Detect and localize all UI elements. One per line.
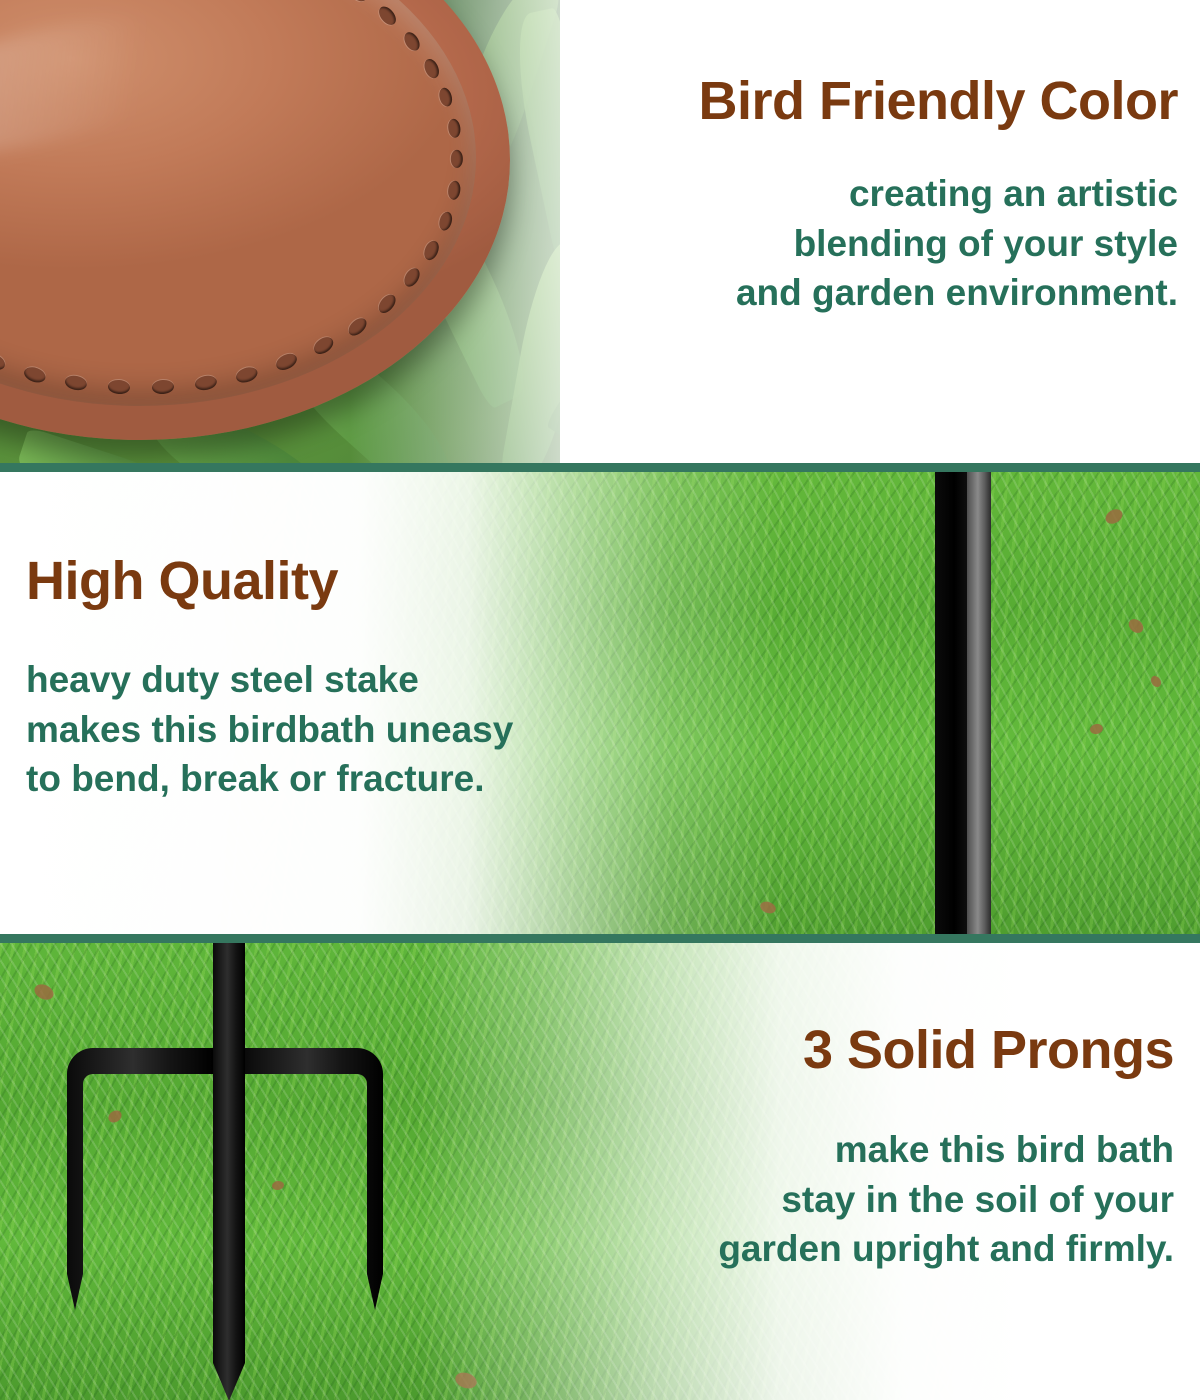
stake-center-prong [213,943,245,1400]
panel-2-body-line: makes this birdbath uneasy [26,705,513,755]
panel-3-copy: 3 Solid Prongs make this bird bath stay … [718,1023,1174,1274]
feature-panel-high-quality: High Quality heavy duty steel stake make… [0,472,1200,934]
three-prong-stake [0,943,620,1400]
panel-2-body-line: heavy duty steel stake [26,655,513,705]
panel-1-body-line: and garden environment. [698,268,1178,318]
panel-2-body: heavy duty steel stake makes this birdba… [26,655,513,804]
panel-3-heading: 3 Solid Prongs [718,1023,1174,1077]
bowl-drain-hole [451,150,463,168]
panel-1-body-line: creating an artistic [698,169,1178,219]
feature-panel-three-solid-prongs: 3 Solid Prongs make this bird bath stay … [0,943,1200,1400]
panel-3-body-line: stay in the soil of your [718,1175,1174,1225]
panel-2-body-line: to bend, break or fracture. [26,754,513,804]
panel-1-heading: Bird Friendly Color [698,74,1178,128]
stake-right-prong [245,1048,383,1310]
birdbath-bowl [0,0,510,440]
panel-3-body-line: make this bird bath [718,1125,1174,1175]
stake-left-prong [67,1048,213,1310]
feature-panel-bird-friendly-color: Bird Friendly Color creating an artistic… [0,0,1200,463]
panel-2-copy: High Quality heavy duty steel stake make… [26,554,513,804]
panel-1-body-line: blending of your style [698,219,1178,269]
panel-1-copy: Bird Friendly Color creating an artistic… [698,74,1178,318]
leaf-debris-speck [1103,506,1125,526]
steel-stake-pole [935,472,967,934]
product-feature-infographic: Bird Friendly Color creating an artistic… [0,0,1200,1400]
panel-1-body: creating an artistic blending of your st… [698,169,1178,318]
leaf-debris-speck [1126,616,1146,635]
panel-3-body-line: garden upright and firmly. [718,1224,1174,1274]
panel-2-heading: High Quality [26,554,513,608]
panel-divider-1 [0,463,1200,472]
panel-divider-2 [0,934,1200,943]
leaf-debris-speck [1149,674,1163,689]
panel-3-body: make this bird bath stay in the soil of … [718,1125,1174,1274]
steel-stake-pole-highlight [967,472,991,934]
leaf-debris-speck [1089,723,1104,735]
